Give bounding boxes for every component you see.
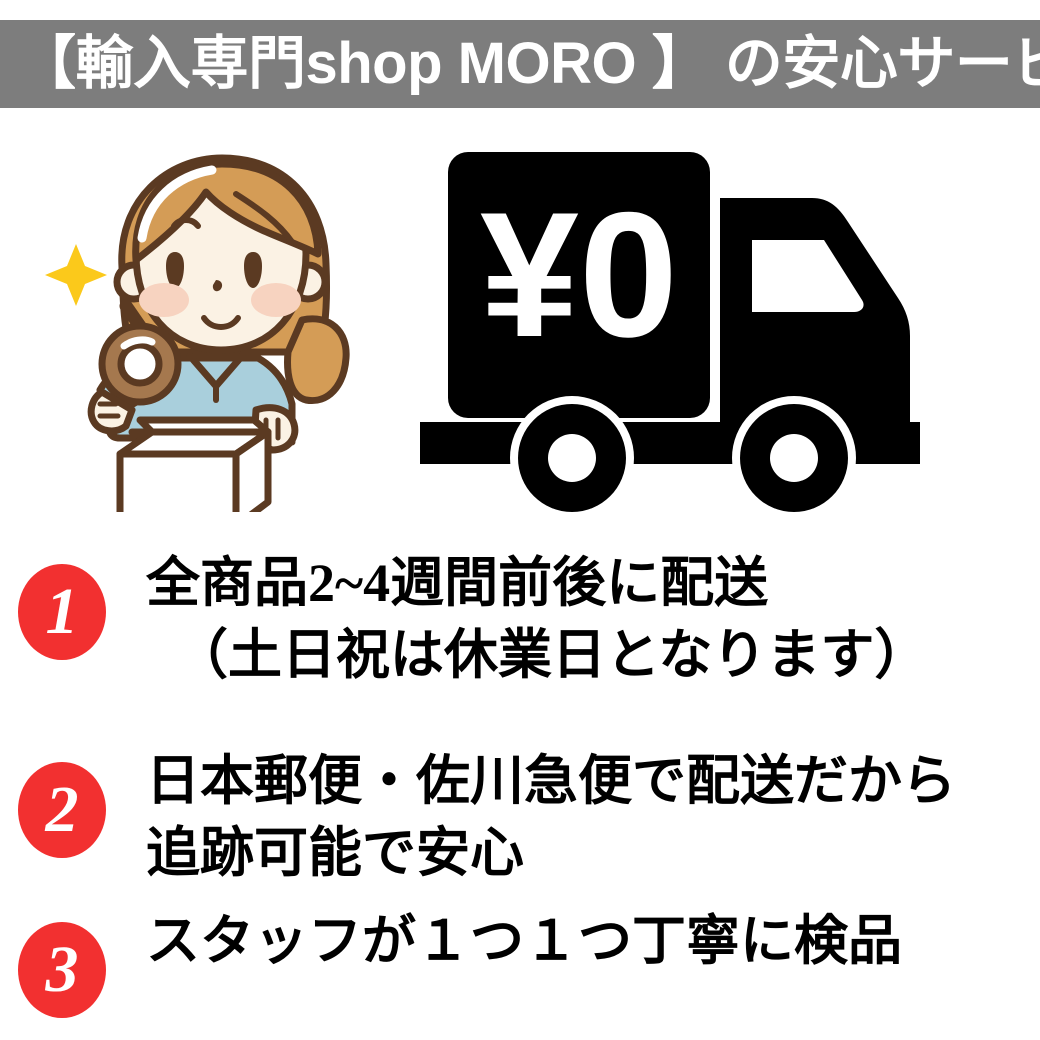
truck-wheel-front-hub [770,434,818,482]
benefit-text-1-line1: 全商品2~4週間前後に配送 [146,548,1040,620]
illustration-band: ¥0 [0,112,1040,536]
benefit-item-2: 2 日本郵便・佐川急便で配送だから 追跡可能で安心 [0,746,1040,890]
benefit-badge-1: 1 [18,564,106,660]
page-title: 【輸入専門shop MORO 】 の安心サービス [18,35,1040,93]
ponytail [288,319,347,401]
benefit-badge-2-number: 2 [46,777,79,843]
benefit-item-1: 1 全商品2~4週間前後に配送 （土日祝は休業日となります） [0,548,1040,692]
benefit-text-3: スタッフが１つ１つ丁寧に検品 [146,906,1040,978]
box-flap-top [140,420,268,432]
truck-wheel-rear-hub [548,434,596,482]
cheek-right [251,283,301,317]
benefit-text-3-line1: スタッフが１つ１つ丁寧に検品 [146,906,1040,978]
benefit-text-2-line2: 追跡可能で安心 [146,818,1040,890]
sparkle-icon [45,244,107,306]
benefit-text-2: 日本郵便・佐川急便で配送だから 追跡可能で安心 [146,746,1040,890]
magnifier-lens [121,345,159,383]
benefit-badge-3-number: 3 [46,937,79,1003]
box-front [120,454,236,512]
benefit-text-1: 全商品2~4週間前後に配送 （土日祝は休業日となります） [146,548,1040,692]
cheek-left [139,283,189,317]
header-banner: 【輸入専門shop MORO 】 の安心サービス [0,20,1040,108]
benefit-text-2-line1: 日本郵便・佐川急便で配送だから [146,746,1040,818]
benefit-badge-3: 3 [18,922,106,1018]
benefit-badge-1-number: 1 [46,579,79,645]
benefit-item-3: 3 スタッフが１つ１つ丁寧に検品 [0,906,1040,1018]
free-shipping-truck-illustration: ¥0 [420,140,980,525]
staff-inspecting-package-illustration [40,142,380,517]
benefit-badge-2: 2 [18,762,106,858]
benefit-text-1-line2: （土日祝は休業日となります） [146,620,1040,692]
truck-cargo-label: ¥0 [480,175,678,374]
